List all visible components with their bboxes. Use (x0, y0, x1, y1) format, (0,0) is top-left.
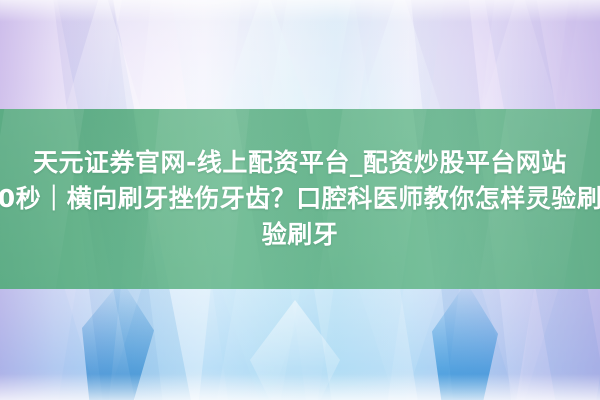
background-top-haze (0, 0, 600, 22)
poster-banner: 天元证券官网-线上配资平台_配资炒股平台网站 0秒｜横向刷牙挫伤牙齿？口腔科医师… (0, 0, 600, 400)
headline-text-block: 天元证券官网-线上配资平台_配资炒股平台网站 0秒｜横向刷牙挫伤牙齿？口腔科医师… (0, 109, 600, 289)
headline-line-1: 天元证券官网-线上配资平台_配资炒股平台网站 (33, 145, 567, 181)
headline-line-2: 0秒｜横向刷牙挫伤牙齿？口腔科医师教你怎样灵验刷 (0, 181, 600, 217)
background-bottom-haze (0, 374, 600, 400)
headline-line-3: 验刷牙 (262, 217, 339, 253)
